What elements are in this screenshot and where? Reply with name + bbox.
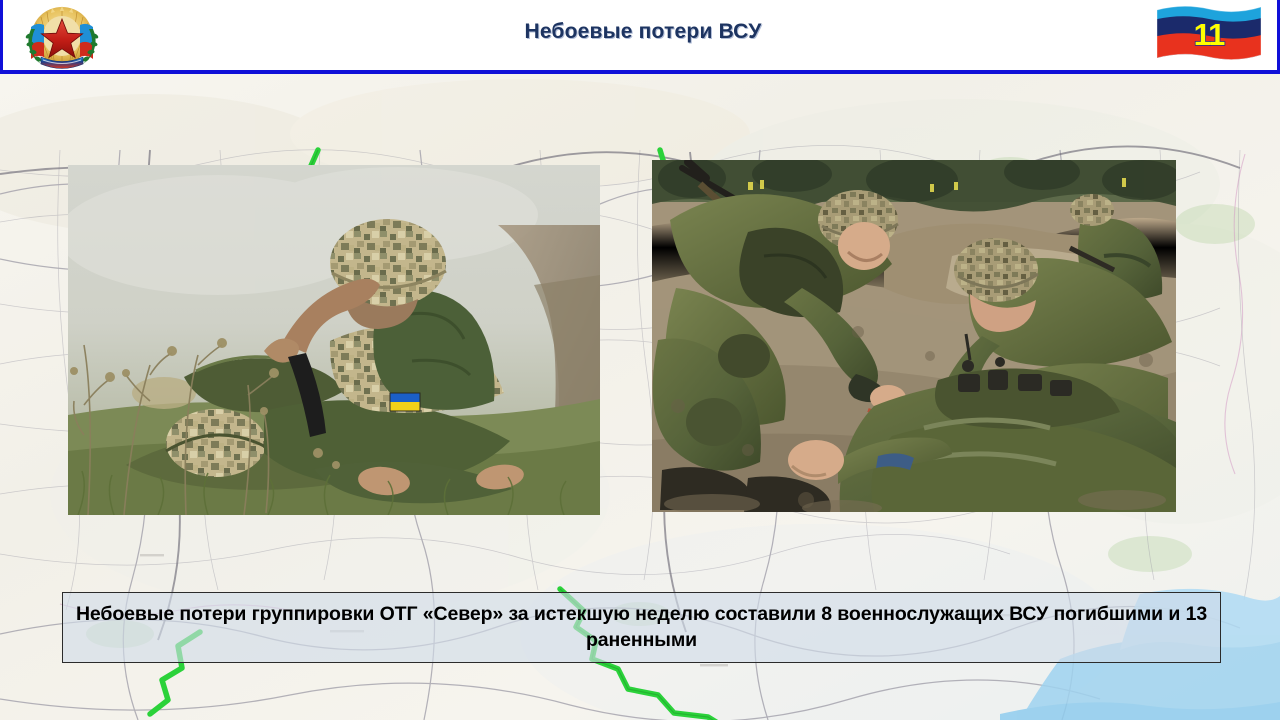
slide-page-number: 11 (1153, 4, 1265, 66)
caption-text: Небоевые потери группировки ОТГ «Север» … (73, 602, 1210, 653)
photo-ukrainian-soldiers-lying-in-grass (68, 165, 600, 515)
photo-soldiers-assisting-casualty (652, 160, 1176, 512)
slide-root: Небоевые потери ВСУ 11 (0, 0, 1280, 720)
lpr-flag-icon: 11 (1153, 4, 1265, 66)
slide-header: Небоевые потери ВСУ 11 (0, 0, 1280, 74)
caption-box: Небоевые потери группировки ОТГ «Север» … (62, 592, 1221, 663)
page-title: Небоевые потери ВСУ (3, 20, 1280, 44)
